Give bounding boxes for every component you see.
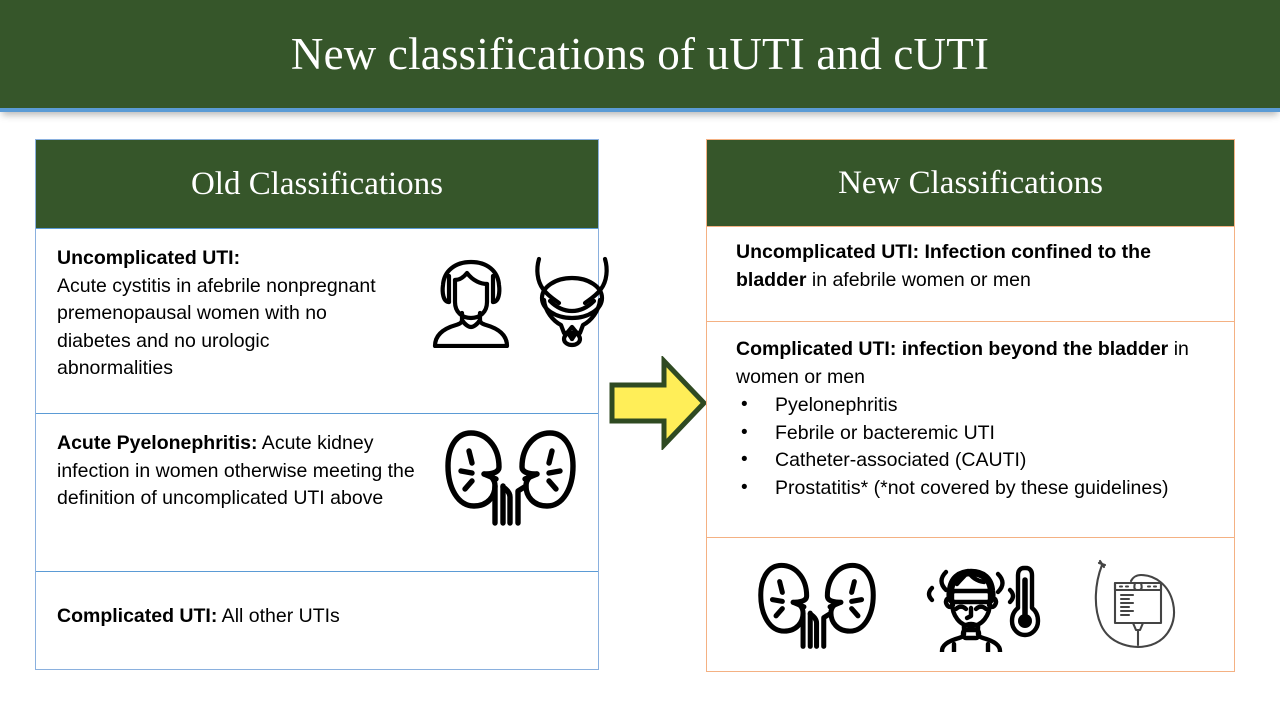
slide-title-banner: New classifications of uUTI and cUTI	[0, 0, 1280, 112]
old-classifications-table: Old Classifications Uncomplicated UTI: A…	[35, 139, 599, 670]
page-title: New classifications of uUTI and cUTI	[291, 28, 989, 80]
kidneys-icon	[443, 427, 578, 527]
table-row: Uncomplicated UTI: Acute cystitis in afe…	[36, 228, 598, 413]
row-text: Complicated UTI: All other UTIs	[57, 603, 584, 631]
list-item: Febrile or bacteremic UTI	[736, 420, 1224, 448]
catheter-drainage-bag-icon	[1089, 557, 1185, 653]
row-bold-text: Complicated UTI: infection beyond the bl…	[736, 338, 1168, 360]
row-term: Uncomplicated UTI:	[57, 247, 240, 269]
febrile-patient-thermometer-icon	[924, 558, 1042, 652]
right-arrow-icon	[608, 356, 708, 450]
row-definition: All other UTIs	[217, 605, 339, 627]
list-item: Pyelonephritis	[736, 392, 1224, 420]
table-row: Acute Pyelonephritis: Acute kidney infec…	[36, 413, 598, 571]
list-item: Catheter-associated (CAUTI)	[736, 447, 1224, 475]
row-term: Acute Pyelonephritis:	[57, 432, 257, 454]
kidneys-icon	[756, 560, 878, 650]
old-classifications-header-label: Old Classifications	[191, 166, 443, 203]
list-item: Prostatitis* (*not covered by these guid…	[736, 475, 1224, 503]
new-classifications-table: New Classifications Uncomplicated UTI: I…	[706, 139, 1235, 672]
row-definition: Acute cystitis in afebrile nonpregnant p…	[57, 275, 376, 380]
row-term: Complicated UTI:	[57, 605, 217, 627]
old-classifications-header: Old Classifications	[36, 140, 598, 228]
row-text: Uncomplicated UTI: Acute cystitis in afe…	[57, 245, 382, 383]
table-row: Complicated UTI: infection beyond the bl…	[707, 321, 1234, 537]
row-text: Acute Pyelonephritis: Acute kidney infec…	[57, 430, 417, 513]
table-row	[707, 537, 1234, 671]
table-row: Uncomplicated UTI: Infection confined to…	[707, 226, 1234, 321]
table-row: Complicated UTI: All other UTIs	[36, 571, 598, 668]
bladder-drop-icon	[531, 253, 613, 351]
new-classifications-header: New Classifications	[707, 140, 1234, 226]
slide-canvas: New classifications of uUTI and cUTI Old…	[0, 0, 1280, 720]
new-classifications-header-label: New Classifications	[838, 165, 1103, 202]
woman-icon	[429, 258, 513, 348]
complicated-uti-bullet-list: Pyelonephritis Febrile or bacteremic UTI…	[736, 392, 1224, 502]
row-text: Uncomplicated UTI: Infection confined to…	[736, 239, 1224, 294]
row-plain-text: in afebrile women or men	[806, 269, 1030, 291]
row-text: Complicated UTI: infection beyond the bl…	[736, 336, 1224, 391]
